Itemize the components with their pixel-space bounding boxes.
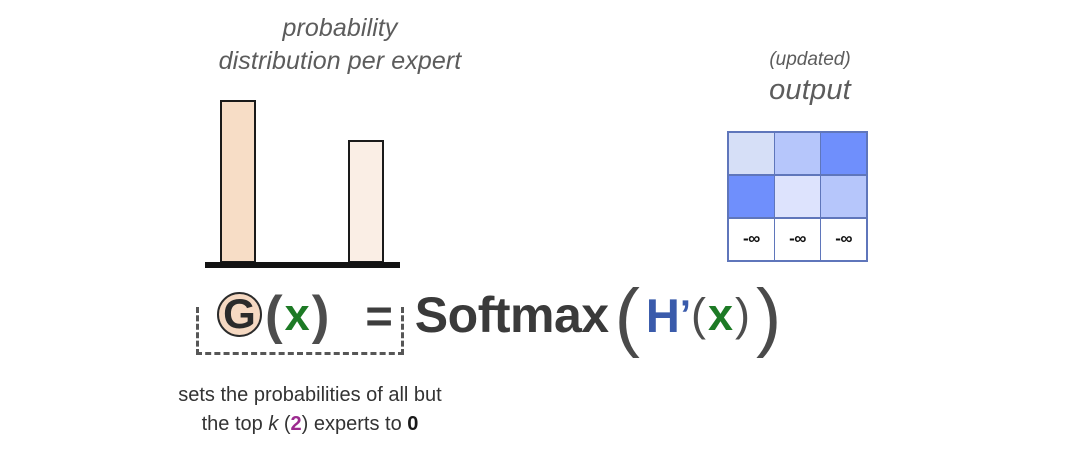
matrix-cell-r2c1: -∞ xyxy=(775,219,820,260)
footnote-k-variable: k xyxy=(268,413,278,435)
histogram-bar-expert-1 xyxy=(220,100,256,263)
matrix-cell-r2c2: -∞ xyxy=(821,219,866,260)
output-label-updated: (updated) xyxy=(690,48,930,72)
matrix-cell-r0c2 xyxy=(821,133,866,174)
annotation-tick-left xyxy=(196,307,199,321)
output-label-title: output xyxy=(690,72,930,108)
annotation-tick-right xyxy=(401,307,404,321)
probability-histogram xyxy=(205,98,400,268)
footnote-text-a: the top xyxy=(202,413,269,435)
histogram-caption: probability distribution per expert xyxy=(120,12,560,78)
matrix-cell-r1c1 xyxy=(775,176,820,217)
footnote-text-b: ( xyxy=(278,413,290,435)
histogram-baseline xyxy=(205,262,400,268)
diagram-canvas: probability distribution per expert (upd… xyxy=(0,0,1080,460)
matrix-cell-r0c1 xyxy=(775,133,820,174)
softmax-label: Softmax xyxy=(415,286,609,344)
footnote-line-1: sets the probabilities of all but xyxy=(95,381,525,410)
matrix-cell-r2c0: -∞ xyxy=(729,219,774,260)
h-open-paren: ( xyxy=(691,289,706,341)
h-prime-mark: ’ xyxy=(680,293,691,338)
gating-term-annotation-box xyxy=(196,307,404,355)
h-prime-symbol: H xyxy=(646,288,680,343)
matrix-cell-r1c2 xyxy=(821,176,866,217)
footnote-text-c: ) experts to xyxy=(302,413,408,435)
matrix-cell-r1c0 xyxy=(729,176,774,217)
footnote-zero-value: 0 xyxy=(407,413,418,435)
h-input-x: x xyxy=(706,289,735,341)
histogram-bar-expert-2 xyxy=(348,140,384,263)
histogram-caption-line1: probability xyxy=(120,12,560,45)
output-matrix: -∞ -∞ -∞ xyxy=(727,131,868,262)
footnote-line-2: the top k (2) experts to 0 xyxy=(95,410,525,439)
footnote: sets the probabilities of all but the to… xyxy=(95,381,525,439)
output-label: (updated) output xyxy=(690,48,930,108)
footnote-k-value: 2 xyxy=(291,413,302,435)
histogram-caption-line2: distribution per expert xyxy=(120,45,560,78)
matrix-cell-r0c0 xyxy=(729,133,774,174)
h-close-paren: ) xyxy=(735,289,750,341)
